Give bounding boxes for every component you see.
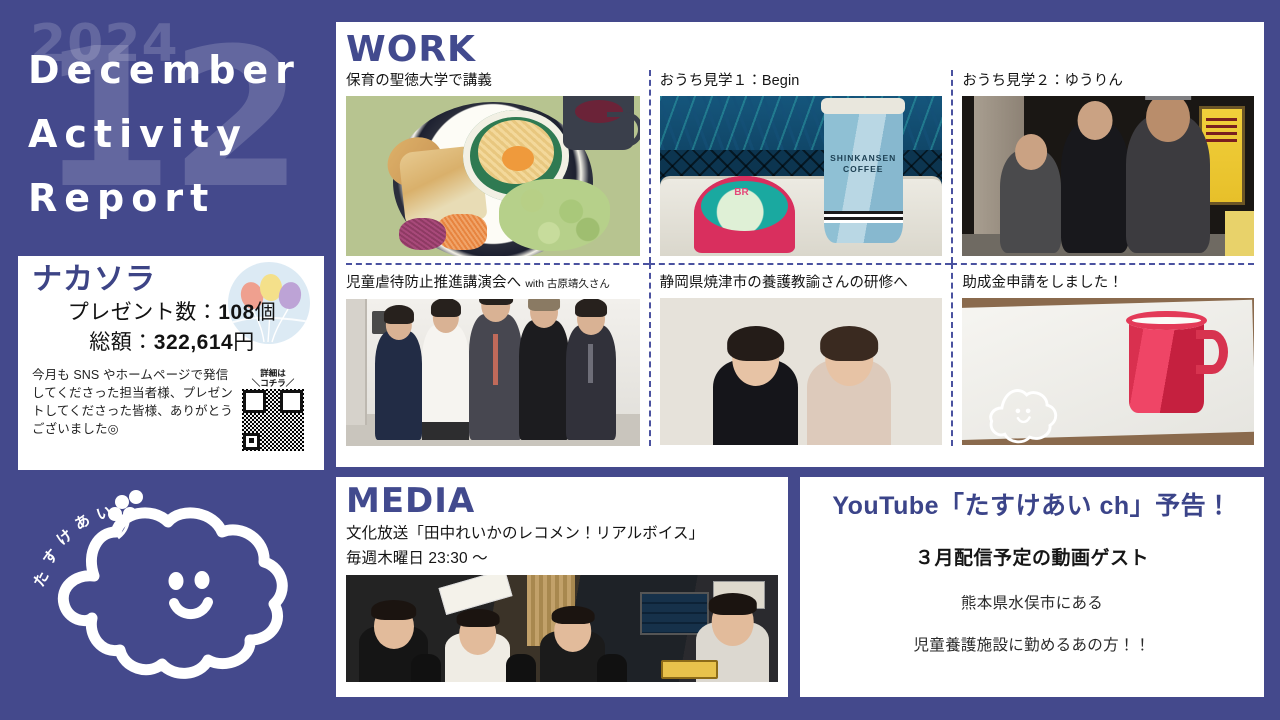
photo-lunch-plate xyxy=(346,96,640,256)
svg-text:あ: あ xyxy=(71,511,93,534)
youtube-card-title: YouTube「たすけあい ch」予告！ xyxy=(814,489,1250,523)
youtube-card-body-1: 熊本県水俣市にある xyxy=(814,591,1250,617)
work-cell-4[interactable]: 児童虐待防止推進講演会へ with 古原靖久さん xyxy=(346,263,649,446)
svg-text:た: た xyxy=(30,568,53,590)
work-cell-5-title: 静岡県焼津市の養護教諭さんの研修へ xyxy=(660,272,943,294)
media-heading: MEDIA xyxy=(346,481,778,521)
page-title-line-1: December xyxy=(28,38,328,102)
work-grid: 保育の聖徳大学で講義 おうち見学１：Begin SHINKANSENCOFFEE xyxy=(346,70,1254,446)
page-title-line-3: Report xyxy=(28,166,328,230)
youtube-card-subtitle: ３月配信予定の動画ゲスト xyxy=(814,545,1250,573)
work-cell-3-title: おうち見学２：ゆうりん xyxy=(962,70,1254,92)
work-cell-3[interactable]: おうち見学２：ゆうりん xyxy=(951,70,1254,263)
total-value: 322,614 xyxy=(154,331,233,354)
qr-block[interactable]: 詳細は ＼コチラ／ xyxy=(234,366,312,451)
total-amount-line: 総額：322,614円 xyxy=(32,328,312,358)
work-cell-6[interactable]: 助成金申請をしました！ xyxy=(951,263,1254,446)
page-title: December Activity Report xyxy=(28,38,328,230)
qr-label-line-2: ＼コチラ／ xyxy=(234,378,312,388)
present-count-value: 108 xyxy=(218,301,255,324)
youtube-card-body-2: 児童養護施設に勤めるあの方！！ xyxy=(814,633,1250,659)
total-unit: 円 xyxy=(233,331,255,354)
svg-text:け: け xyxy=(53,526,76,549)
photo-radio-studio xyxy=(346,575,778,682)
photo-shinkansen-coffee: SHINKANSENCOFFEE BR xyxy=(660,96,943,256)
photo-two-women xyxy=(660,298,943,445)
thanks-note: 今月も SNS やホームページで発信してくださった担当者様、プレゼントしてくださ… xyxy=(32,366,234,438)
work-heading: WORK xyxy=(346,28,1254,72)
work-cell-2[interactable]: おうち見学１：Begin SHINKANSENCOFFEE BR xyxy=(649,70,952,263)
work-cell-4-title-sub: with 古原靖久さん xyxy=(525,278,610,290)
media-program-line: 文化放送「田中れいかのレコメン！リアルボイス」 xyxy=(346,521,778,546)
youtube-preview-card: YouTube「たすけあい ch」予告！ ３月配信予定の動画ゲスト 熊本県水俣市… xyxy=(800,477,1264,697)
left-column: 2024 12 December Activity Report ナカソラ プレ… xyxy=(0,0,336,720)
media-schedule-line: 毎週木曜日 23:30 〜 xyxy=(346,546,778,571)
work-cell-1[interactable]: 保育の聖徳大学で講義 xyxy=(346,70,649,263)
title-block: 2024 12 December Activity Report xyxy=(18,14,328,246)
photo-three-men-outdoors xyxy=(962,96,1254,256)
work-cell-5[interactable]: 静岡県焼津市の養護教諭さんの研修へ xyxy=(649,263,952,446)
present-count-label: プレゼント数： xyxy=(68,301,219,324)
present-count-unit: 個 xyxy=(255,301,277,324)
brand-name: ナカソラ xyxy=(32,264,312,296)
qr-code-icon[interactable] xyxy=(242,389,304,451)
work-cell-4-title-main: 児童虐待防止推進講演会へ xyxy=(346,275,521,291)
photo-red-mug xyxy=(962,298,1254,445)
work-cell-6-title: 助成金申請をしました！ xyxy=(962,272,1254,294)
present-count-line: プレゼント数：108個 xyxy=(32,298,312,328)
svg-text:す: す xyxy=(39,546,62,569)
page-title-line-2: Activity xyxy=(28,102,328,166)
qr-label-line-1: 詳細は xyxy=(234,368,312,378)
media-card: MEDIA 文化放送「田中れいかのレコメン！リアルボイス」 毎週木曜日 23:3… xyxy=(336,477,788,697)
note-row: 今月も SNS やホームページで発信してくださった担当者様、プレゼントしてくださ… xyxy=(32,366,312,451)
work-card: WORK 保育の聖徳大学で講義 おうち見学１：Begin SHI xyxy=(336,22,1264,467)
tasukeai-cloud-logo: た す け あ い xyxy=(16,478,316,708)
nakasora-info-card: ナカソラ プレゼント数：108個 総額：322,614円 今月も SNS やホー… xyxy=(18,256,324,470)
cloud-watermark-icon xyxy=(980,373,1067,435)
work-cell-1-title: 保育の聖徳大学で講義 xyxy=(346,70,640,92)
work-cell-2-title: おうち見学１：Begin xyxy=(660,70,943,92)
stats-block: プレゼント数：108個 総額：322,614円 xyxy=(32,298,312,358)
photo-group-of-five xyxy=(346,299,640,446)
total-label: 総額： xyxy=(89,331,154,354)
work-cell-4-title: 児童虐待防止推進講演会へ with 古原靖久さん xyxy=(346,272,640,295)
